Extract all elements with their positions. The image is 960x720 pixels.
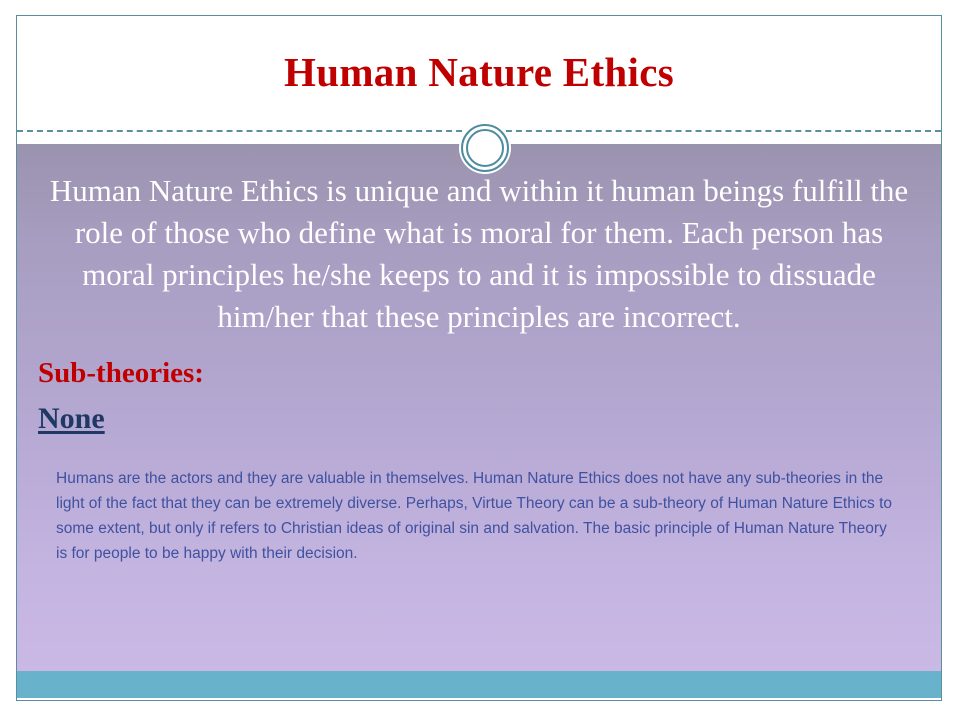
- slide-content: Human Nature Ethics is unique and within…: [17, 144, 941, 566]
- sub-theories-value-row: None: [17, 392, 941, 438]
- slide-header: Human Nature Ethics: [17, 16, 941, 131]
- note-paragraph: Humans are the actors and they are valua…: [17, 438, 941, 566]
- ornament-inner-ring: [466, 129, 504, 167]
- slide: Human Nature Ethics Human Nature Ethics …: [16, 15, 942, 701]
- sub-theories-value: None: [38, 402, 105, 435]
- circle-ornament-icon: [457, 120, 513, 176]
- footer-band: [17, 671, 941, 698]
- page-title: Human Nature Ethics: [17, 48, 941, 96]
- sub-theories-heading: Sub-theories:: [17, 338, 941, 392]
